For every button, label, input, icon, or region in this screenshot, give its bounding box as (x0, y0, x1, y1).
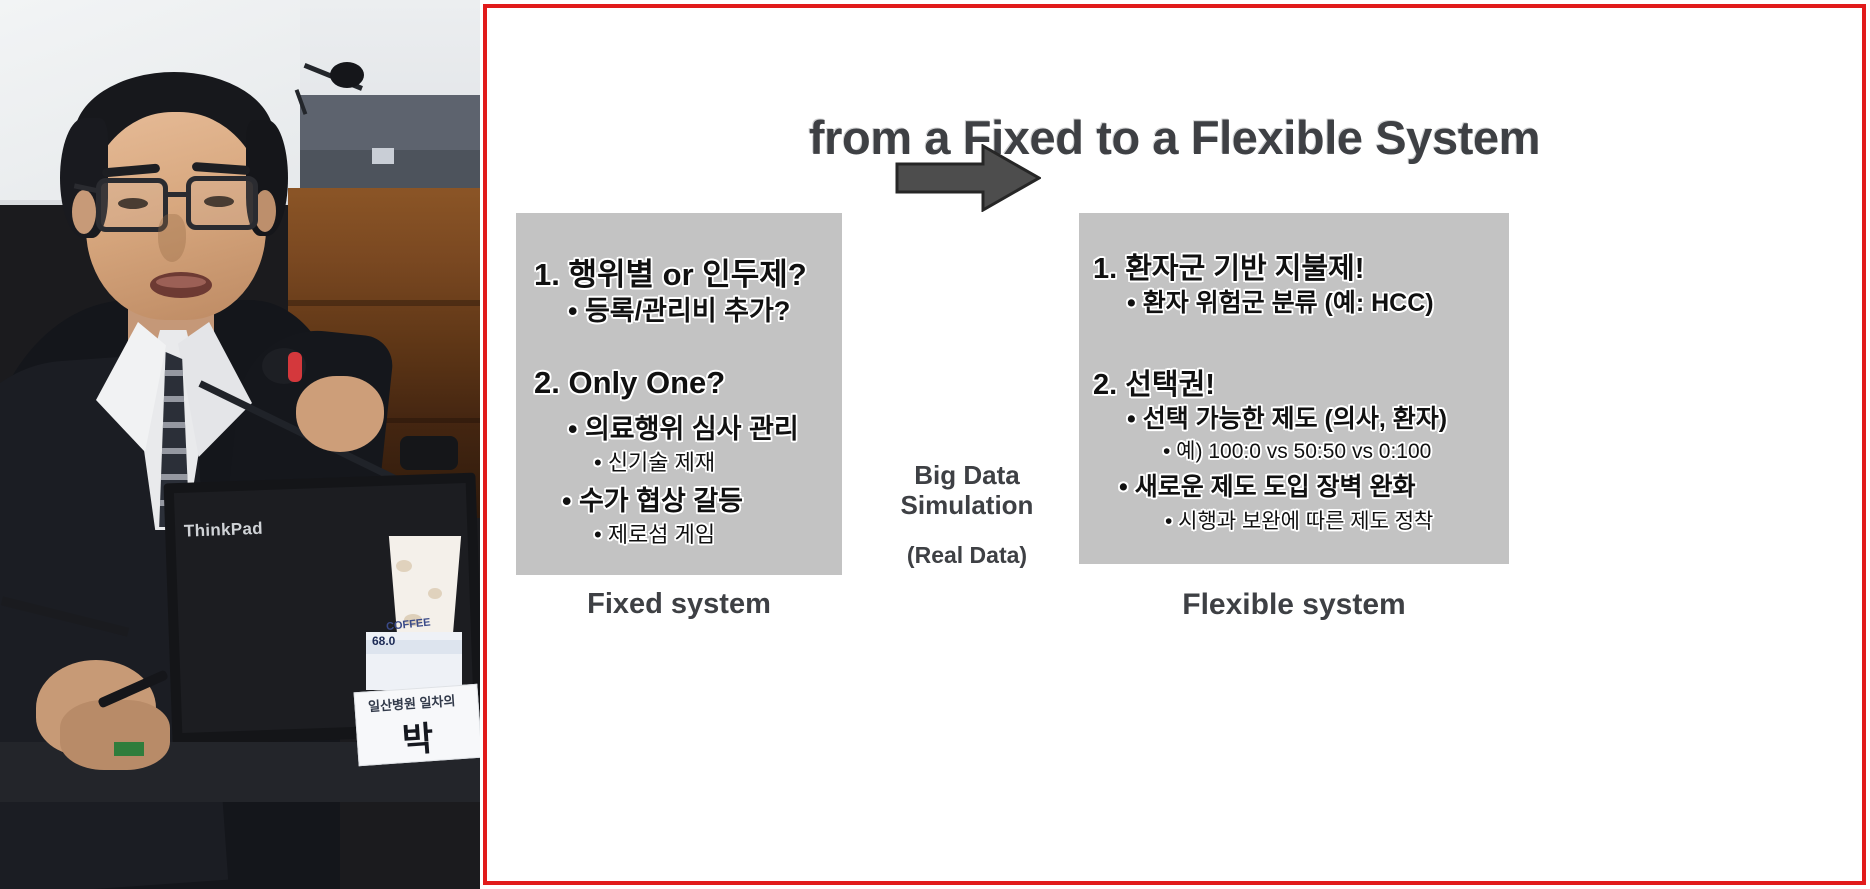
photo-glasses-bridge (166, 192, 190, 197)
left-panel-heading-2: 2. Only One? (534, 365, 725, 401)
photo-podium-seam-upper (288, 300, 480, 306)
simulation-line: Simulation (867, 490, 1067, 520)
nameplate-line2: 박 (400, 711, 435, 762)
right-panel-bullet-2-1: • 선택 가능한 제도 (의사, 환자) (1127, 399, 1447, 435)
laptop-brand-label: ThinkPad (184, 518, 275, 543)
real-data-subcaption: (Real Data) (867, 542, 1067, 569)
photo-cup-pattern-2 (428, 588, 442, 599)
photo-mouth-inner (156, 276, 206, 288)
fixed-system-label: Fixed system (516, 588, 842, 621)
photo-cup-pattern-1 (396, 560, 412, 572)
left-panel-heading-1: 1. 행위별 or 인두제? (534, 249, 807, 294)
right-panel-bullet-2-2: • 새로운 제도 도입 장벽 완화 (1119, 467, 1415, 503)
big-data-simulation-caption: Big Data Simulation (867, 460, 1067, 520)
right-panel-bullet-2-2-a: • 시행과 보완에 따른 제도 정착 (1165, 505, 1433, 535)
photo-wristwatch (400, 436, 458, 470)
fixed-system-panel: 1. 행위별 or 인두제? • 등록/관리비 추가? 2. Only One?… (516, 213, 842, 575)
left-panel-bullet-1-1: • 등록/관리비 추가? (568, 289, 790, 328)
photo-glasses-lens-left (96, 178, 168, 232)
photo-handheld-mic-red-band (288, 352, 302, 382)
flexible-system-label: Flexible system (1079, 588, 1509, 622)
photo-glasses-lens-right (186, 176, 258, 230)
big-data-line: Big Data (867, 460, 1067, 490)
photo-right-hand (296, 376, 384, 452)
presentation-slide: from a Fixed to a Flexible System 1. 행위별… (483, 4, 1866, 885)
slide-title: from a Fixed to a Flexible System (487, 110, 1862, 165)
right-panel-heading-1: 1. 환자군 기반 지불제! (1093, 245, 1364, 287)
left-panel-bullet-2-2: • 수가 협상 갈등 (562, 479, 743, 518)
photo-podium-mic-head (330, 62, 364, 88)
right-panel-bullet-1-1: • 환자 위험군 분류 (예: HCC) (1127, 283, 1434, 319)
photo-left-hand-shadow (60, 700, 170, 770)
slide-content-area: from a Fixed to a Flexible System 1. 행위별… (487, 8, 1862, 881)
photo-bottle-text: 68.0 (372, 634, 395, 648)
left-panel-bullet-2-1-a: • 신기술 제재 (594, 445, 715, 477)
speaker-photo: ThinkPad COFFEE 68.0 일산병원 일차의 박 (0, 0, 480, 889)
right-arrow-icon (895, 144, 1041, 212)
photo-nose (158, 214, 186, 262)
flexible-system-panel: 1. 환자군 기반 지불제! • 환자 위험군 분류 (예: HCC) 2. 선… (1079, 213, 1509, 564)
right-panel-bullet-2-1-a: • 예) 100:0 vs 50:50 vs 0:100 (1163, 435, 1431, 465)
left-panel-bullet-2-1: • 의료행위 심사 관리 (568, 407, 799, 446)
photo-ear-left (72, 190, 96, 234)
right-panel-heading-2: 2. 선택권! (1093, 361, 1215, 403)
photo-panel-sticker (372, 148, 394, 164)
photo-green-indicator (114, 742, 144, 756)
left-panel-bullet-2-2-a: • 제로섬 게임 (594, 517, 715, 549)
